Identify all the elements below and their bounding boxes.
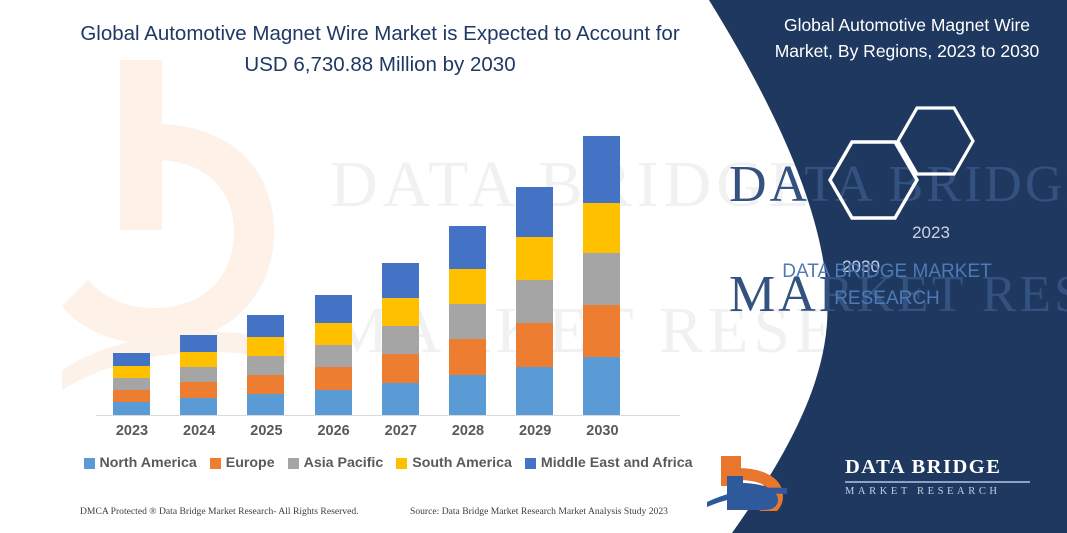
hexagon-group: 2023 2030 (797, 95, 1027, 225)
bar-segment-2023-europe[interactable] (113, 390, 150, 402)
logo-sub-text: MARKET RESEARCH (845, 486, 1030, 497)
bar-2029[interactable] (516, 187, 553, 415)
legend-item-europe[interactable]: Europe (210, 455, 275, 471)
legend-label: Asia Pacific (304, 455, 384, 471)
brand-logo: DATA BRIDGE MARKET RESEARCH (707, 452, 1047, 514)
bar-segment-2028-north-america[interactable] (449, 375, 486, 415)
legend-swatch-icon (288, 458, 299, 469)
x-axis-label-2024: 2024 (164, 423, 234, 439)
bar-segment-2023-south-america[interactable] (113, 366, 150, 378)
legend-item-middle-east-and-africa[interactable]: Middle East and Africa (525, 455, 693, 471)
bar-segment-2029-europe[interactable] (516, 323, 553, 367)
bar-segment-2028-asia-pacific[interactable] (449, 304, 486, 339)
chart-x-axis-labels: 20232024202520262027202820292030 (96, 423, 680, 445)
legend-item-south-america[interactable]: South America (396, 455, 512, 471)
bar-segment-2027-north-america[interactable] (382, 383, 419, 415)
bar-segment-2024-asia-pacific[interactable] (180, 367, 217, 382)
x-axis-label-2025: 2025 (231, 423, 301, 439)
bar-segment-2029-north-america[interactable] (516, 367, 553, 415)
panel-title: Global Automotive Magnet Wire Market, By… (757, 12, 1057, 64)
logo-divider (845, 481, 1030, 483)
data-bridge-logo-icon (707, 452, 832, 514)
bar-2027[interactable] (382, 263, 419, 415)
x-axis-label-2026: 2026 (299, 423, 369, 439)
logo-main-text: DATA BRIDGE (845, 456, 1030, 479)
bar-segment-2025-europe[interactable] (247, 375, 284, 394)
bar-segment-2025-middle-east-and-africa[interactable] (247, 315, 284, 337)
chart-baseline (96, 415, 680, 416)
legend-label: Middle East and Africa (541, 455, 693, 471)
bar-segment-2025-north-america[interactable] (247, 394, 284, 415)
panel-brand-text: DATA BRIDGE MARKET RESEARCH (742, 258, 1032, 312)
x-axis-label-2028: 2028 (433, 423, 503, 439)
bar-2028[interactable] (449, 226, 486, 415)
bar-segment-2027-middle-east-and-africa[interactable] (382, 263, 419, 298)
hexagon-shapes-icon (797, 95, 1027, 225)
bar-segment-2029-middle-east-and-africa[interactable] (516, 187, 553, 237)
bar-segment-2024-europe[interactable] (180, 382, 217, 398)
bar-segment-2024-north-america[interactable] (180, 398, 217, 415)
x-axis-label-2027: 2027 (366, 423, 436, 439)
x-axis-label-2029: 2029 (500, 423, 570, 439)
bar-2026[interactable] (315, 295, 352, 415)
bar-segment-2029-south-america[interactable] (516, 237, 553, 280)
bar-segment-2024-middle-east-and-africa[interactable] (180, 335, 217, 352)
bar-segment-2025-south-america[interactable] (247, 337, 284, 356)
legend-swatch-icon (210, 458, 221, 469)
right-panel: DATA BRIDGE MARKET RESEARCH Global Autom… (687, 0, 1067, 533)
x-axis-label-2030: 2030 (567, 423, 637, 439)
footer: DMCA Protected ® Data Bridge Market Rese… (80, 506, 680, 517)
chart-legend: North AmericaEuropeAsia PacificSouth Ame… (96, 455, 680, 471)
bar-2025[interactable] (247, 315, 284, 415)
bar-segment-2027-south-america[interactable] (382, 298, 419, 326)
bar-segment-2028-south-america[interactable] (449, 269, 486, 304)
legend-item-asia-pacific[interactable]: Asia Pacific (288, 455, 384, 471)
bar-segment-2030-middle-east-and-africa[interactable] (583, 136, 620, 203)
bar-2024[interactable] (180, 335, 217, 415)
bar-segment-2023-north-america[interactable] (113, 402, 150, 415)
bar-segment-2023-middle-east-and-africa[interactable] (113, 353, 150, 366)
legend-item-north-america[interactable]: North America (84, 455, 197, 471)
bar-segment-2026-north-america[interactable] (315, 390, 352, 415)
legend-label: South America (412, 455, 512, 471)
bar-segment-2028-europe[interactable] (449, 339, 486, 375)
bar-segment-2029-asia-pacific[interactable] (516, 280, 553, 323)
bar-segment-2030-south-america[interactable] (583, 203, 620, 253)
bar-segment-2030-asia-pacific[interactable] (583, 253, 620, 305)
legend-swatch-icon (525, 458, 536, 469)
infographic-root: DATA BRIDGE MARKET RESEARCH Global Autom… (0, 0, 1067, 533)
logo-text-block: DATA BRIDGE MARKET RESEARCH (845, 456, 1030, 497)
bar-segment-2026-middle-east-and-africa[interactable] (315, 295, 352, 323)
bar-segment-2026-south-america[interactable] (315, 323, 352, 345)
hexagon-label-2023: 2023 (903, 223, 959, 243)
bar-segment-2027-europe[interactable] (382, 354, 419, 383)
panel-brand-line-2: RESEARCH (742, 285, 1032, 312)
footer-source-text: Source: Data Bridge Market Research Mark… (410, 506, 668, 517)
footer-dmca-text: DMCA Protected ® Data Bridge Market Rese… (80, 506, 410, 517)
panel-brand-line-1: DATA BRIDGE MARKET (742, 258, 1032, 285)
bar-2023[interactable] (113, 353, 150, 415)
bar-segment-2030-north-america[interactable] (583, 357, 620, 415)
legend-label: Europe (226, 455, 275, 471)
x-axis-label-2023: 2023 (97, 423, 167, 439)
page-title: Global Automotive Magnet Wire Market is … (70, 18, 690, 80)
legend-swatch-icon (396, 458, 407, 469)
bar-segment-2030-europe[interactable] (583, 305, 620, 357)
bar-segment-2026-asia-pacific[interactable] (315, 345, 352, 367)
legend-label: North America (100, 455, 197, 471)
bar-2030[interactable] (583, 136, 620, 415)
bar-segment-2023-asia-pacific[interactable] (113, 378, 150, 390)
bar-segment-2024-south-america[interactable] (180, 352, 217, 367)
bar-segment-2026-europe[interactable] (315, 367, 352, 390)
legend-swatch-icon (84, 458, 95, 469)
bar-segment-2027-asia-pacific[interactable] (382, 326, 419, 354)
bar-segment-2028-middle-east-and-africa[interactable] (449, 226, 486, 269)
bar-segment-2025-asia-pacific[interactable] (247, 356, 284, 375)
